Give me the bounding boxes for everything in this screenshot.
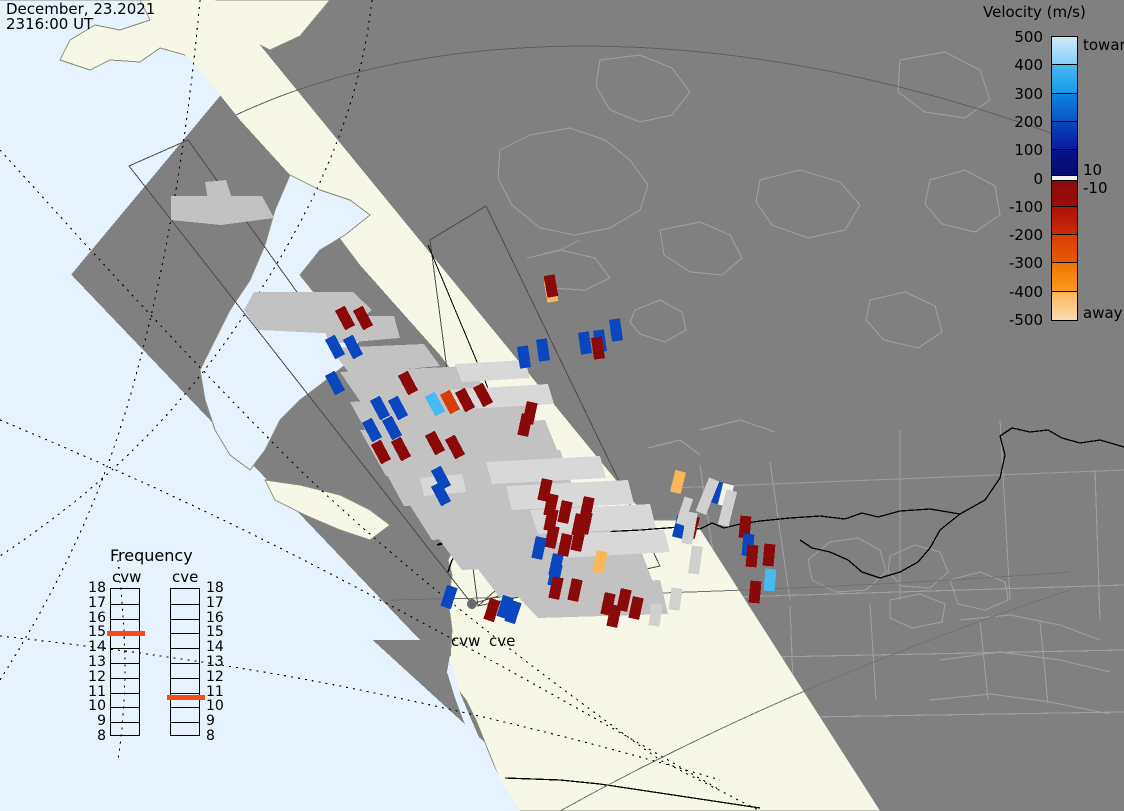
radar-site-dot: [467, 599, 477, 609]
colorbar-tick: -500: [1009, 311, 1043, 329]
frequency-scale-label: 11: [206, 684, 224, 700]
colorbar-tick: 500: [1014, 28, 1043, 46]
frequency-tick-line: [111, 707, 139, 708]
frequency-tick-line: [171, 633, 199, 634]
frequency-tick-line: [111, 604, 139, 605]
colorbar-gradient[interactable]: [1051, 36, 1078, 321]
colorbar-tick: 300: [1014, 85, 1043, 103]
frequency-scale-label: 16: [84, 610, 106, 626]
colorbar-segment: [1052, 292, 1077, 320]
frequency-legend-title: Frequency: [110, 546, 193, 565]
colorbar-side-label: away: [1083, 304, 1123, 322]
timestamp: December, 23.2021 2316:00 UT: [6, 2, 155, 32]
frequency-tick-line: [111, 722, 139, 723]
frequency-tick-line: [171, 663, 199, 664]
colorbar-tick: 100: [1014, 141, 1043, 159]
site-label-cvw: cvw: [451, 632, 480, 650]
colorbar-segment: [1052, 150, 1077, 175]
frequency-tick-line: [171, 619, 199, 620]
frequency-scale-label: 12: [206, 669, 224, 685]
frequency-scale-label: 18: [206, 580, 224, 596]
colorbar-tick: 0: [1033, 170, 1043, 188]
frequency-tick-line: [111, 619, 139, 620]
frequency-scale-label: 18: [84, 580, 106, 596]
frequency-scale-label: 8: [206, 728, 215, 744]
frequency-marker-cve: [167, 695, 205, 700]
colorbar-side-label: 10: [1083, 161, 1102, 179]
frequency-scale-label: 10: [84, 698, 106, 714]
colorbar-segment: [1052, 181, 1077, 206]
colorbar-segment: [1052, 94, 1077, 122]
colorbar-tick: -400: [1009, 283, 1043, 301]
frequency-column-label: cvw: [112, 568, 141, 586]
frequency-scale-label: 14: [84, 639, 106, 655]
frequency-tick-line: [171, 693, 199, 694]
frequency-scale-label: 12: [84, 669, 106, 685]
colorbar-tick: -200: [1009, 226, 1043, 244]
colorbar-tick: -300: [1009, 254, 1043, 272]
frequency-scale-label: 14: [206, 639, 224, 655]
colorbar-tick: 400: [1014, 56, 1043, 74]
frequency-tick-line: [111, 663, 139, 664]
frequency-tick-line: [171, 678, 199, 679]
colorbar-segment: [1052, 235, 1077, 263]
frequency-tick-line: [111, 678, 139, 679]
frequency-tick-line: [171, 648, 199, 649]
frequency-scale-label: 9: [206, 713, 215, 729]
frequency-scale-label: 11: [84, 684, 106, 700]
frequency-legend: Frequency cvw18171615141312111098cve1817…: [88, 546, 248, 796]
frequency-scale-label: 17: [206, 595, 224, 611]
frequency-tick-line: [171, 604, 199, 605]
colorbar-segment: [1052, 65, 1077, 93]
colorbar-segment: [1052, 37, 1077, 65]
velocity-colorbar: Velocity (m/s) 5004003002001000-100-200-…: [975, 0, 1124, 340]
frequency-tick-line: [171, 722, 199, 723]
frequency-scale-label: 9: [84, 713, 106, 729]
colorbar-segment: [1052, 263, 1077, 291]
colorbar-segment: [1052, 207, 1077, 235]
colorbar-tick: 200: [1014, 113, 1043, 131]
frequency-column-label: cve: [172, 568, 198, 586]
colorbar-side-label: toward: [1083, 36, 1124, 54]
frequency-scale-label: 16: [206, 610, 224, 626]
frequency-marker-cvw: [107, 631, 145, 636]
frequency-scale-label: 15: [84, 624, 106, 640]
frequency-tick-line: [111, 648, 139, 649]
frequency-scale-label: 15: [206, 624, 224, 640]
frequency-scale-label: 13: [206, 654, 224, 670]
colorbar-segment: [1052, 122, 1077, 150]
colorbar-tick: -100: [1009, 198, 1043, 216]
site-label-cve: cve: [489, 632, 515, 650]
radar-map-figure: December, 23.2021 2316:00 UT Velocity (m…: [0, 0, 1124, 811]
frequency-scale-label: 17: [84, 595, 106, 611]
frequency-scale-label: 8: [84, 728, 106, 744]
colorbar-side-label: -10: [1083, 179, 1108, 197]
frequency-scale-label: 13: [84, 654, 106, 670]
frequency-scale-label: 10: [206, 698, 224, 714]
frequency-scale-cvw[interactable]: [110, 588, 140, 736]
frequency-tick-line: [171, 707, 199, 708]
frequency-tick-line: [111, 693, 139, 694]
colorbar-title: Velocity (m/s): [983, 3, 1123, 21]
frequency-scale-cve[interactable]: [170, 588, 200, 736]
timestamp-time: 2316:00 UT: [6, 17, 155, 32]
